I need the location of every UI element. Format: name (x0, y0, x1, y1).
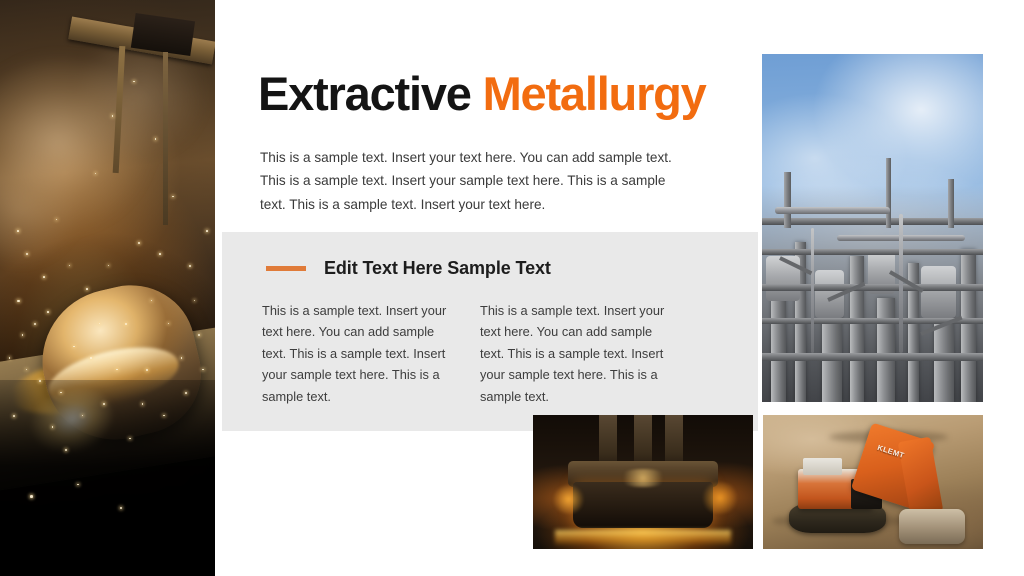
excavator-concrete-pipe (899, 509, 965, 544)
image-refinery-plant (762, 54, 983, 402)
refinery-tower-5 (877, 298, 895, 402)
refinery-deck-5 (762, 353, 983, 361)
image-excavator: KLEMT (763, 415, 983, 549)
refinery-drum-4 (921, 266, 956, 318)
refinery-pipe-vertical-2 (811, 228, 815, 353)
refinery-stack-1 (784, 172, 791, 228)
furnace-floor-glow (555, 530, 731, 546)
furnace-glow-left (551, 485, 586, 514)
panel-heading: Edit Text Here Sample Text (324, 258, 551, 279)
page-title: Extractive Metallurgy (258, 68, 706, 120)
accent-dash-icon (266, 266, 306, 271)
panel-column-2: This is a sample text. Insert your text … (480, 300, 676, 407)
image-furnace-hall (533, 415, 753, 549)
ladle-sparks (0, 0, 215, 576)
panel-column-1: This is a sample text. Insert your text … (262, 300, 458, 407)
refinery-pipe-vertical-1 (899, 214, 903, 353)
content-panel: Edit Text Here Sample Text This is a sam… (222, 232, 758, 431)
refinery-pipe-horizontal-1 (775, 207, 890, 214)
furnace-glow-right (700, 482, 740, 514)
panel-columns: This is a sample text. Insert your text … (262, 300, 676, 407)
refinery-tower-4 (850, 256, 863, 402)
excavator-cab (803, 458, 843, 475)
image-molten-ladle (0, 0, 215, 576)
intro-paragraph: This is a sample text. Insert your text … (260, 146, 684, 216)
panel-heading-row: Edit Text Here Sample Text (266, 258, 551, 279)
title-part-primary: Extractive (258, 67, 471, 120)
furnace-vessel (573, 482, 714, 528)
refinery-deck-2 (762, 249, 983, 255)
refinery-deck-3 (762, 284, 983, 291)
refinery-stack-3 (948, 179, 955, 228)
refinery-tower-8 (961, 249, 976, 402)
title-part-accent: Metallurgy (483, 67, 706, 120)
slide-canvas: Extractive Metallurgy This is a sample t… (0, 0, 1024, 576)
refinery-stack-2 (886, 158, 892, 228)
